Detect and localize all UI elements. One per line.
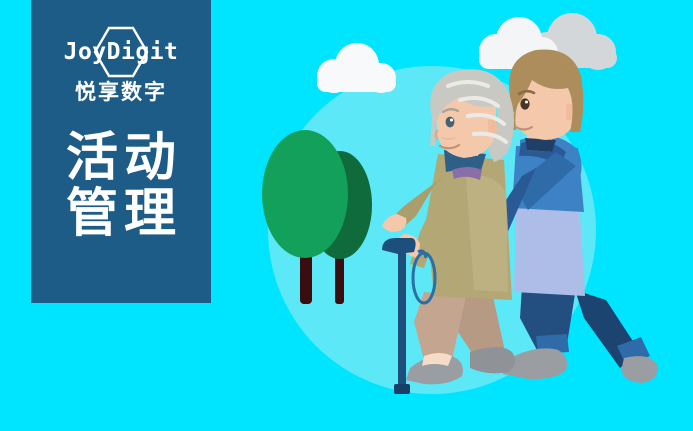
logo-wordmark: JoyDigit	[64, 41, 179, 64]
elderly-back-shoe	[470, 347, 515, 373]
logo-mark: JoyDigit	[46, 26, 196, 78]
promo-banner: JoyDigit 悦享数字 活动 管理	[0, 0, 693, 431]
young-man-eye	[520, 98, 529, 109]
elderly-eye	[446, 117, 455, 128]
page-title-line2: 管理	[60, 186, 182, 242]
page-title: 活动 管理	[60, 130, 182, 242]
elderly-eye-glint	[450, 119, 453, 122]
young-man-collar	[525, 138, 556, 152]
young-man-eye-glint	[525, 101, 528, 104]
logo-chinese-name: 悦享数字	[75, 82, 167, 103]
brand-logo: JoyDigit 悦享数字	[46, 26, 196, 114]
title-panel: JoyDigit 悦享数字 活动 管理	[31, 0, 211, 303]
page-title-line1: 活动	[60, 130, 182, 186]
cane-tip	[394, 384, 410, 394]
